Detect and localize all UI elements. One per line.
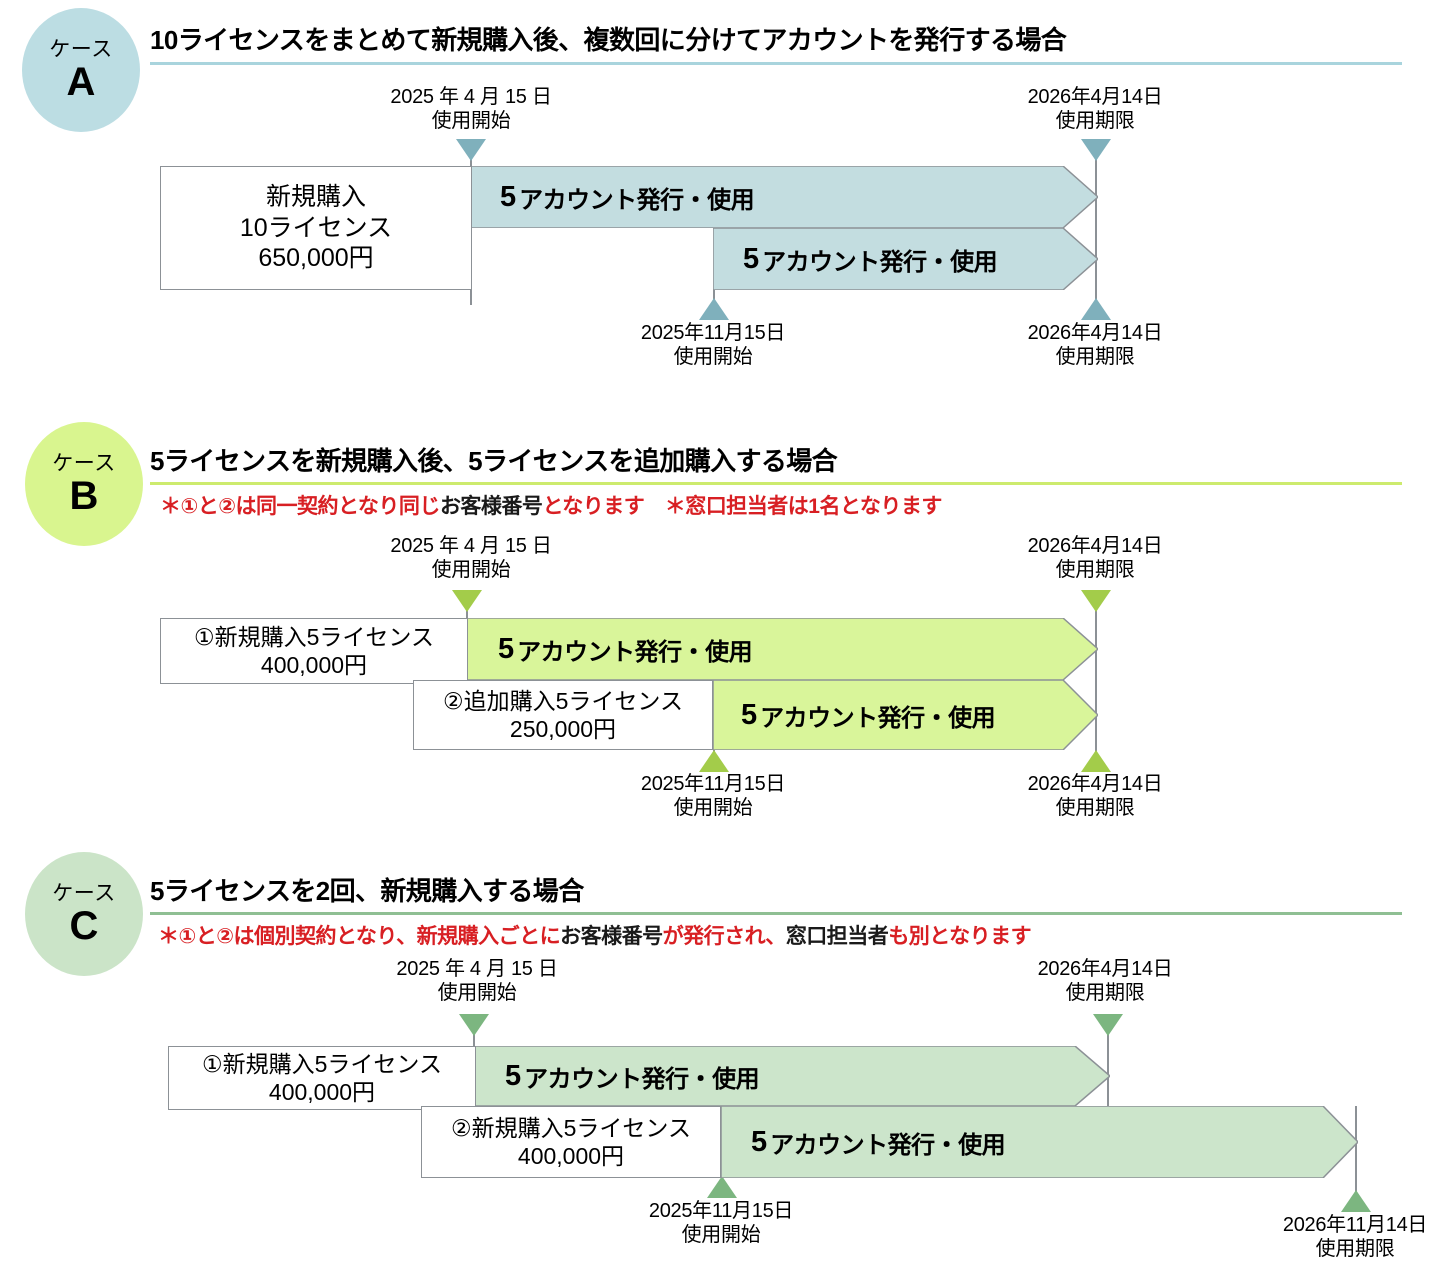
case-b-title: 5ライセンスを新規購入後、5ライセンスを追加購入する場合 <box>150 441 837 478</box>
diagram-canvas: ケース A 10ライセンスをまとめて新規購入後、複数回に分けてアカウントを発行す… <box>0 0 1440 1279</box>
case-b-box2-line2: 250,000円 <box>510 715 616 743</box>
case-b-bot-start-date-label: 2025年11月15日 使用開始 <box>608 773 818 820</box>
case-c-top-end-date: 2026年4月14日 <box>1038 958 1173 980</box>
case-a-bar1-label: アカウント発行・使用 <box>519 180 754 215</box>
case-c-bar1-text: 5 アカウント発行・使用 <box>505 1046 759 1106</box>
case-a-purchase-box-1: 新規購入 10ライセンス 650,000円 <box>160 166 472 290</box>
case-b-bar1-text: 5 アカウント発行・使用 <box>498 618 752 680</box>
case-b-note-seg3: となります ＊窓口担当者は1名となります <box>542 495 941 518</box>
case-a-bot-start-date-label: 2025年11月15日 使用開始 <box>608 322 818 369</box>
case-c-bot-start-date: 2025年11月15日 <box>649 1200 793 1222</box>
case-c-bar1-number: 5 <box>505 1060 521 1093</box>
case-c-usage-bar-1: 5 アカウント発行・使用 <box>473 1046 1110 1106</box>
case-b-note-seg2: お客様番号 <box>440 495 543 518</box>
case-c-bot-start-caption: 使用開始 <box>616 1224 826 1248</box>
case-a-bot-end-date: 2026年4月14日 <box>1028 322 1163 344</box>
case-c-bar2-label: アカウント発行・使用 <box>770 1125 1005 1160</box>
case-b-box1-line2: 400,000円 <box>261 651 367 679</box>
case-a-usage-bar-1: 5 アカウント発行・使用 <box>470 166 1098 228</box>
case-a-bar2-number: 5 <box>743 243 759 276</box>
case-a-box1-line3: 650,000円 <box>258 243 373 274</box>
case-c-box1-line2: 400,000円 <box>269 1078 375 1106</box>
case-c-bot-end-caption: 使用期限 <box>1250 1238 1440 1262</box>
case-c-title-rule <box>150 912 1402 915</box>
case-a-bot-end-marker <box>1081 298 1111 320</box>
case-badge-c-kana: ケース <box>52 883 115 904</box>
case-a-bar1-text: 5 アカウント発行・使用 <box>500 166 754 228</box>
case-a-title: 10ライセンスをまとめて新規購入後、複数回に分けてアカウントを発行する場合 <box>150 20 1066 57</box>
case-a-top-end-date-label: 2026年4月14日 使用期限 <box>1000 86 1190 133</box>
case-c-note-seg1: ＊①と②は個別契約となり、新規購入ごとに <box>158 925 560 948</box>
case-b-box2-line1: ②追加購入5ライセンス <box>443 687 683 715</box>
case-c-bot-end-date: 2026年11月14日 <box>1283 1214 1427 1236</box>
case-b-top-start-caption: 使用開始 <box>366 559 576 583</box>
case-b-top-start-date-label: 2025 年 4 月 15 日 使用開始 <box>366 535 576 582</box>
case-c-top-start-date: 2025 年 4 月 15 日 <box>396 958 557 980</box>
case-c-bot-end-marker <box>1341 1190 1371 1212</box>
case-b-top-start-date: 2025 年 4 月 15 日 <box>390 535 551 557</box>
case-c-purchase-box-2: ②新規購入5ライセンス 400,000円 <box>421 1106 721 1178</box>
case-c-top-start-marker <box>459 1014 489 1036</box>
case-a-top-end-marker <box>1081 139 1111 161</box>
case-a-bot-start-date: 2025年11月15日 <box>641 322 785 344</box>
case-b-note: ＊①と②は同一契約となり同じお客様番号となります ＊窓口担当者は1名となります <box>160 490 942 520</box>
case-a-top-start-date-label: 2025 年 4 月 15 日 使用開始 <box>366 86 576 133</box>
case-c-box1-line1: ①新規購入5ライセンス <box>202 1050 442 1078</box>
case-b-bot-start-caption: 使用開始 <box>608 797 818 821</box>
case-a-top-start-caption: 使用開始 <box>366 110 576 134</box>
case-a-bar2-text: 5 アカウント発行・使用 <box>743 228 997 290</box>
case-c-title: 5ライセンスを2回、新規購入する場合 <box>150 871 584 908</box>
case-a-bot-start-marker <box>699 298 729 320</box>
case-c-bar2-number: 5 <box>751 1126 767 1159</box>
case-b-top-end-marker <box>1081 590 1111 612</box>
case-a-box1-line1: 新規購入 <box>266 182 366 213</box>
case-a-top-start-date: 2025 年 4 月 15 日 <box>390 86 551 108</box>
case-b-top-end-date: 2026年4月14日 <box>1028 535 1163 557</box>
case-c-note-seg5: も別となります <box>888 925 1031 948</box>
case-b-top-end-caption: 使用期限 <box>1000 559 1190 583</box>
case-b-bot-start-date: 2025年11月15日 <box>641 773 785 795</box>
case-badge-b: ケース B <box>25 422 143 546</box>
case-b-top-end-date-label: 2026年4月14日 使用期限 <box>1000 535 1190 582</box>
case-c-bot-end-date-label: 2026年11月14日 使用期限 <box>1250 1214 1440 1261</box>
case-b-bar2-text: 5 アカウント発行・使用 <box>741 680 995 750</box>
case-a-bar2-label: アカウント発行・使用 <box>762 242 997 277</box>
case-c-note-seg2: お客様番号 <box>560 925 663 948</box>
case-badge-c-letter: C <box>70 906 99 946</box>
case-c-bar2-text: 5 アカウント発行・使用 <box>751 1106 1005 1178</box>
case-b-usage-bar-1: 5 アカウント発行・使用 <box>466 618 1098 680</box>
case-a-box1-line2: 10ライセンス <box>240 213 392 244</box>
case-b-bot-start-marker <box>699 750 729 772</box>
case-b-bar2-number: 5 <box>741 699 757 732</box>
case-c-box2-line1: ②新規購入5ライセンス <box>451 1114 691 1142</box>
case-b-note-seg1: ＊①と②は同一契約となり同じ <box>160 495 440 518</box>
case-badge-a-kana: ケース <box>49 39 112 60</box>
case-a-top-start-marker <box>456 139 486 161</box>
case-c-note: ＊①と②は個別契約となり、新規購入ごとにお客様番号が発行され、窓口担当者も別とな… <box>158 920 1031 950</box>
case-b-bar1-number: 5 <box>498 633 514 666</box>
case-c-note-seg3: が発行され、 <box>663 925 786 948</box>
case-a-title-rule <box>150 62 1402 65</box>
case-b-top-start-marker <box>452 590 482 612</box>
case-a-bot-end-date-label: 2026年4月14日 使用期限 <box>1000 322 1190 369</box>
case-b-purchase-box-1: ①新規購入5ライセンス 400,000円 <box>160 618 468 684</box>
case-a-top-end-date: 2026年4月14日 <box>1028 86 1163 108</box>
case-badge-a-letter: A <box>67 62 96 102</box>
case-b-bot-end-caption: 使用期限 <box>1000 797 1190 821</box>
case-b-box1-line1: ①新規購入5ライセンス <box>194 623 434 651</box>
case-b-title-rule <box>150 482 1402 485</box>
case-b-purchase-box-2: ②追加購入5ライセンス 250,000円 <box>413 680 713 750</box>
case-c-bar1-label: アカウント発行・使用 <box>524 1059 759 1094</box>
case-c-top-end-caption: 使用期限 <box>1010 982 1200 1006</box>
case-b-usage-bar-2: 5 アカウント発行・使用 <box>713 680 1098 750</box>
case-badge-c: ケース C <box>25 852 143 976</box>
case-c-purchase-box-1: ①新規購入5ライセンス 400,000円 <box>168 1046 476 1110</box>
case-b-bot-end-date: 2026年4月14日 <box>1028 773 1163 795</box>
case-c-note-seg4: 窓口担当者 <box>786 925 889 948</box>
case-c-usage-bar-2: 5 アカウント発行・使用 <box>721 1106 1358 1178</box>
case-b-bot-end-marker <box>1081 750 1111 772</box>
case-c-top-start-caption: 使用開始 <box>372 982 582 1006</box>
case-b-bar2-label: アカウント発行・使用 <box>760 698 995 733</box>
case-badge-b-kana: ケース <box>52 453 115 474</box>
case-badge-a: ケース A <box>22 8 140 132</box>
case-b-bar1-label: アカウント発行・使用 <box>517 632 752 667</box>
case-c-top-end-date-label: 2026年4月14日 使用期限 <box>1010 958 1200 1005</box>
case-c-bot-start-marker <box>707 1176 737 1198</box>
case-c-top-end-marker <box>1093 1014 1123 1036</box>
case-a-top-end-caption: 使用期限 <box>1000 110 1190 134</box>
case-a-bar1-number: 5 <box>500 181 516 214</box>
case-badge-b-letter: B <box>70 476 99 516</box>
case-c-box2-line2: 400,000円 <box>518 1142 624 1170</box>
case-a-usage-bar-2: 5 アカウント発行・使用 <box>713 228 1098 290</box>
case-a-bot-end-caption: 使用期限 <box>1000 346 1190 370</box>
case-c-top-start-date-label: 2025 年 4 月 15 日 使用開始 <box>372 958 582 1005</box>
case-a-bot-start-caption: 使用開始 <box>608 346 818 370</box>
case-b-bot-end-date-label: 2026年4月14日 使用期限 <box>1000 773 1190 820</box>
case-c-bot-start-date-label: 2025年11月15日 使用開始 <box>616 1200 826 1247</box>
